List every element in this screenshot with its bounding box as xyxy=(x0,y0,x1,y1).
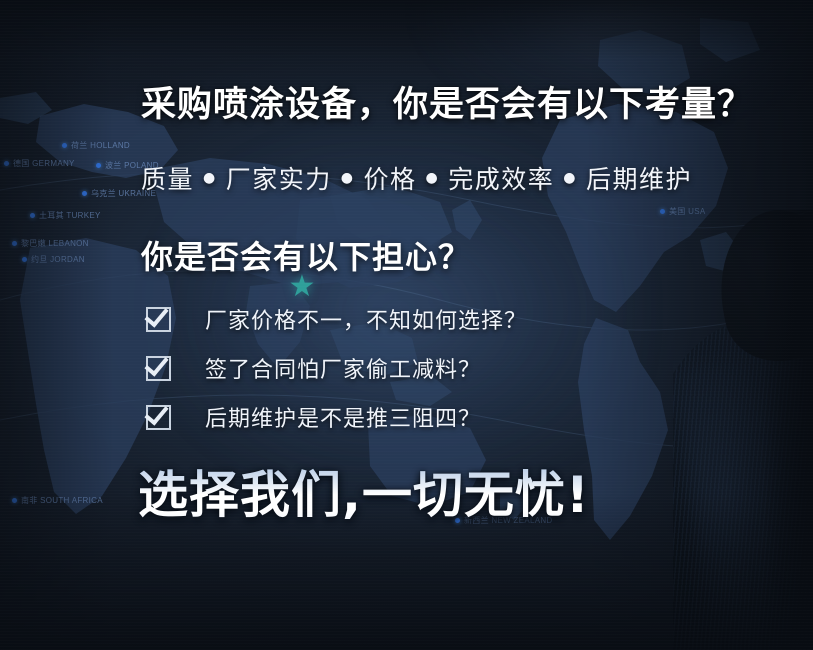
section-title-concerns: 你是否会有以下担心？ xyxy=(141,232,471,278)
feature-separator-dot: ● xyxy=(203,170,217,186)
checklist-item-label: 签了合同怕厂家偷工减料？ xyxy=(205,352,481,384)
promo-banner: 荷兰 HOLLAND德国 GERMANY波兰 POLAND乌克兰 UKRAINE… xyxy=(0,0,813,650)
feature-list: 质量●厂家实力●价格●完成效率●后期维护 xyxy=(141,160,692,196)
feature-item: 厂家实力 xyxy=(226,165,332,194)
checklist-item-label: 后期维护是不是推三阻四？ xyxy=(205,401,481,433)
checklist-item-label: 厂家价格不一，不知如何选择？ xyxy=(205,303,527,335)
concerns-checklist: 厂家价格不一，不知如何选择？签了合同怕厂家偷工减料？后期维护是不是推三阻四？ xyxy=(146,303,527,433)
page-title: 采购喷涂设备，你是否会有以下考量？ xyxy=(141,86,753,125)
feature-item: 后期维护 xyxy=(586,165,692,194)
slogan: 选择我们,一切无忧! xyxy=(138,455,590,527)
banner-content: 采购喷涂设备，你是否会有以下考量？ 质量●厂家实力●价格●完成效率●后期维护 你… xyxy=(0,0,813,650)
checklist-item: 厂家价格不一，不知如何选择？ xyxy=(146,303,527,335)
feature-item: 质量 xyxy=(141,165,194,194)
feature-item: 价格 xyxy=(363,165,416,194)
feature-item: 完成效率 xyxy=(448,165,554,194)
feature-separator-dot: ● xyxy=(341,170,355,186)
feature-separator-dot: ● xyxy=(425,170,439,186)
checkbox-checked-icon xyxy=(146,307,171,332)
checklist-item: 后期维护是不是推三阻四？ xyxy=(146,401,527,433)
feature-separator-dot: ● xyxy=(563,170,577,186)
checkbox-checked-icon xyxy=(146,356,171,381)
checkbox-checked-icon xyxy=(146,405,171,430)
checklist-item: 签了合同怕厂家偷工减料？ xyxy=(146,352,527,384)
